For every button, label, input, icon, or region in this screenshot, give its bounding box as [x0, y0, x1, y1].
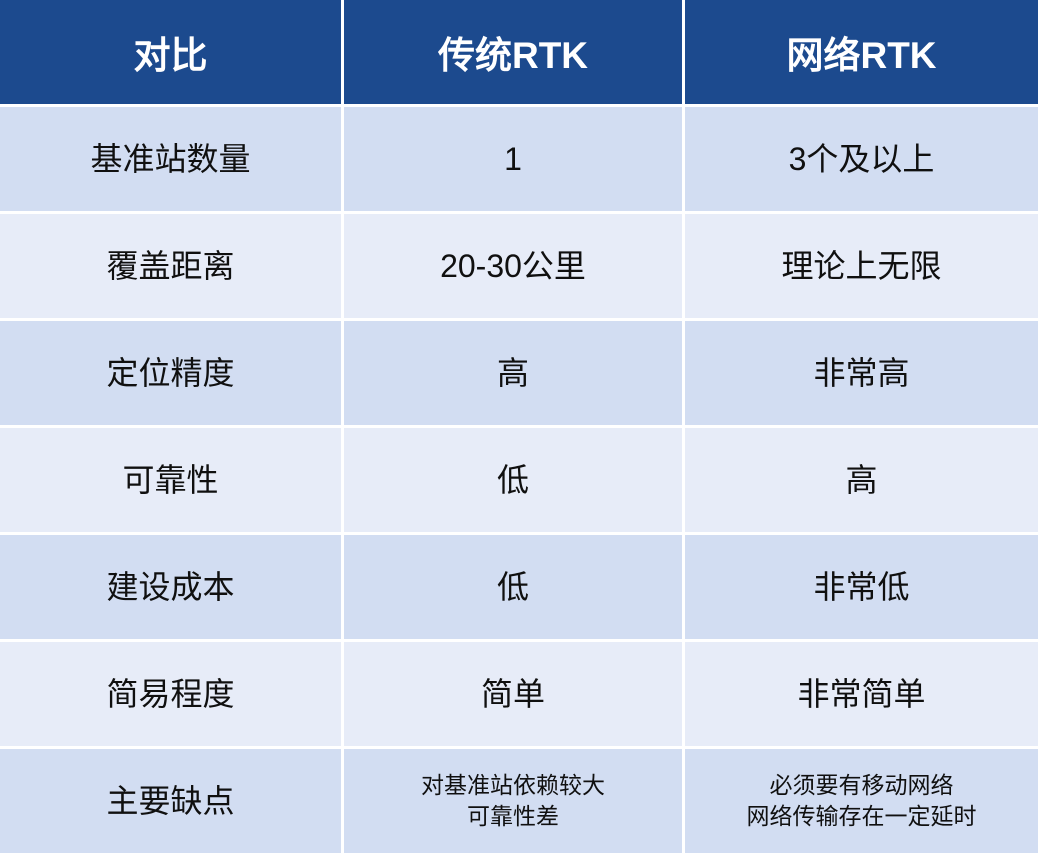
table-row: 覆盖距离 20-30公里 理论上无限 [0, 214, 1038, 321]
cell-network-base-station-count: 3个及以上 [685, 107, 1038, 214]
cell-network-main-drawbacks: 必须要有移动网络 网络传输存在一定延时 [685, 749, 1038, 853]
row-label-base-station-count: 基准站数量 [0, 107, 344, 214]
cell-traditional-positioning-accuracy: 高 [344, 321, 685, 428]
table-row: 主要缺点 对基准站依赖较大 可靠性差 必须要有移动网络 网络传输存在一定延时 [0, 749, 1038, 853]
cell-traditional-base-station-count: 1 [344, 107, 685, 214]
cell-traditional-main-drawbacks-line-1: 对基准站依赖较大 [344, 770, 682, 801]
cell-traditional-main-drawbacks-line-2: 可靠性差 [344, 801, 682, 832]
cell-traditional-construction-cost: 低 [344, 535, 685, 642]
table-header: 对比 传统RTK 网络RTK [0, 0, 1038, 107]
cell-network-positioning-accuracy: 非常高 [685, 321, 1038, 428]
row-label-reliability: 可靠性 [0, 428, 344, 535]
row-label-ease-of-use: 简易程度 [0, 642, 344, 749]
cell-network-coverage-distance: 理论上无限 [685, 214, 1038, 321]
table-row: 可靠性 低 高 [0, 428, 1038, 535]
row-label-positioning-accuracy: 定位精度 [0, 321, 344, 428]
table-row: 基准站数量 1 3个及以上 [0, 107, 1038, 214]
row-label-coverage-distance: 覆盖距离 [0, 214, 344, 321]
cell-traditional-ease-of-use: 简单 [344, 642, 685, 749]
cell-traditional-coverage-distance: 20-30公里 [344, 214, 685, 321]
cell-network-main-drawbacks-line-2: 网络传输存在一定延时 [685, 801, 1038, 832]
table-row: 简易程度 简单 非常简单 [0, 642, 1038, 749]
header-cell-traditional-rtk: 传统RTK [344, 0, 685, 107]
table-row: 建设成本 低 非常低 [0, 535, 1038, 642]
cell-traditional-main-drawbacks: 对基准站依赖较大 可靠性差 [344, 749, 685, 853]
row-label-main-drawbacks: 主要缺点 [0, 749, 344, 853]
table-row: 定位精度 高 非常高 [0, 321, 1038, 428]
cell-network-construction-cost: 非常低 [685, 535, 1038, 642]
row-label-construction-cost: 建设成本 [0, 535, 344, 642]
cell-network-reliability: 高 [685, 428, 1038, 535]
header-cell-compare: 对比 [0, 0, 344, 107]
cell-network-ease-of-use: 非常简单 [685, 642, 1038, 749]
table-body: 基准站数量 1 3个及以上 覆盖距离 20-30公里 理论上无限 定位精度 高 … [0, 107, 1038, 853]
header-cell-network-rtk: 网络RTK [685, 0, 1038, 107]
header-row: 对比 传统RTK 网络RTK [0, 0, 1038, 107]
rtk-comparison-table: 对比 传统RTK 网络RTK 基准站数量 1 3个及以上 覆盖距离 20-30公… [0, 0, 1038, 853]
cell-network-main-drawbacks-line-1: 必须要有移动网络 [685, 770, 1038, 801]
cell-traditional-reliability: 低 [344, 428, 685, 535]
